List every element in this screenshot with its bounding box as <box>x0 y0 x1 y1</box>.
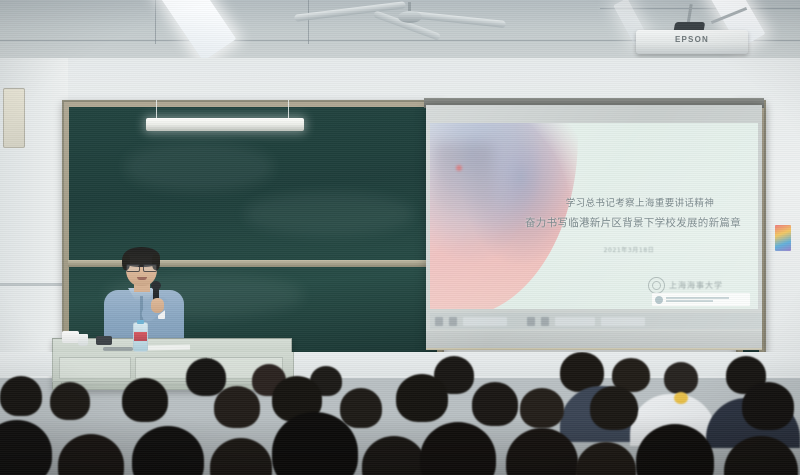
projector: EPSON <box>636 22 748 54</box>
app-icon[interactable] <box>541 317 549 326</box>
audience-head <box>520 388 564 428</box>
audience-head <box>590 386 638 430</box>
audience-head <box>186 358 226 396</box>
audience-head <box>214 386 260 428</box>
audience-head <box>132 426 204 475</box>
projection-screen: 学习总书记考察上海重要讲话精神 奋力书写临港新片区背景下学校发展的新篇章 202… <box>426 105 762 350</box>
wall-trim <box>0 283 70 286</box>
slide-date: 2021年3月18日 <box>554 245 704 254</box>
taskbar-window-item[interactable] <box>555 317 595 326</box>
water-bottle <box>133 322 148 352</box>
taskbar-window-item[interactable] <box>601 317 645 326</box>
audience-head <box>122 378 168 422</box>
projector-brand-label: EPSON <box>636 35 748 44</box>
browser-icon[interactable] <box>449 317 457 326</box>
badge-icon <box>655 296 663 304</box>
audience-head <box>0 420 52 475</box>
slide-subtitle: 奋力书写临港新片区背景下学校发展的新篇章 <box>510 215 756 230</box>
audience-head <box>664 362 698 394</box>
audience <box>0 352 800 475</box>
audience-head <box>210 438 272 475</box>
media-icon[interactable] <box>527 317 535 326</box>
speaker-hand <box>151 298 164 313</box>
audience-head <box>58 434 124 475</box>
paper-cup <box>78 334 88 346</box>
presentation-slide: 学习总书记考察上海重要讲话精神 奋力书写临港新片区背景下学校发展的新篇章 202… <box>430 123 758 309</box>
ceiling: EPSON <box>0 0 800 62</box>
lecture-hall-photo: EPSON 学习总书记考察上海重要讲话精神 奋力书写临港新片区背景下学校发展的新… <box>0 0 800 475</box>
audience-hair-tie <box>674 392 688 404</box>
university-name: 上海海事大学 <box>669 280 723 291</box>
audience-head <box>420 422 496 475</box>
audience-head <box>0 376 42 416</box>
wall-sign <box>3 88 25 148</box>
wall-poster <box>775 225 791 251</box>
microphone-receiver <box>96 336 112 345</box>
audience-head <box>472 382 518 426</box>
ceiling-fan-icon <box>332 2 492 36</box>
ceiling-seam <box>155 0 156 44</box>
screen-weight-bar <box>426 348 762 350</box>
light-wire <box>288 100 289 120</box>
slide-logo: 上海海事大学 <box>648 275 756 295</box>
start-icon[interactable] <box>435 317 443 326</box>
glasses-icon <box>126 264 157 270</box>
board-lamp-icon <box>146 118 304 131</box>
desk-cable <box>103 347 133 351</box>
audience-head <box>396 374 448 422</box>
ceiling-seam <box>308 0 309 44</box>
light-wire <box>156 100 157 120</box>
audience-head <box>576 442 636 475</box>
fluorescent-light-icon <box>152 0 237 61</box>
slide-badge <box>652 293 750 306</box>
audience-head <box>362 436 426 475</box>
slide-title: 学习总书记考察上海重要讲话精神 <box>526 195 754 209</box>
documents <box>148 345 190 351</box>
university-seal-icon <box>648 277 665 294</box>
audience-head <box>340 388 382 428</box>
taskbar-window-item[interactable] <box>463 317 507 326</box>
tissue-box <box>62 331 79 343</box>
taskbar[interactable] <box>430 313 762 329</box>
audience-head <box>50 382 90 420</box>
audience-head <box>742 382 794 430</box>
